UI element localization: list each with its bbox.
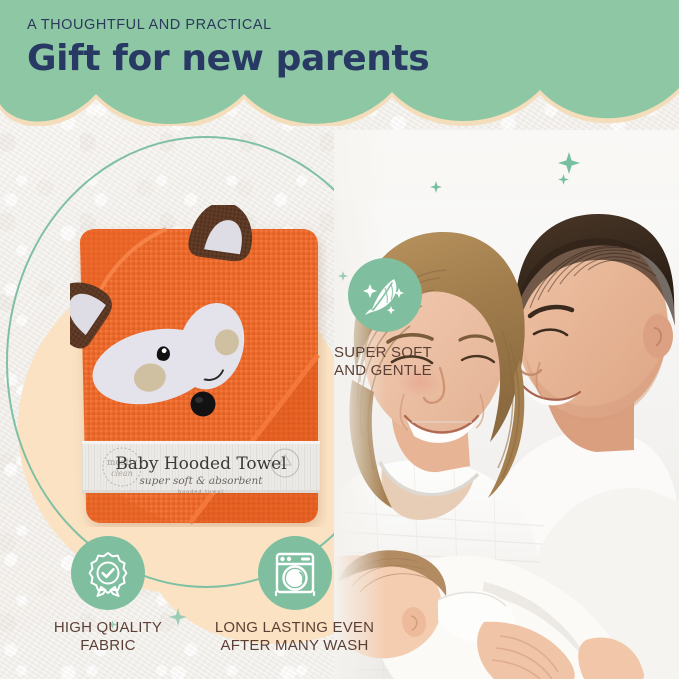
family-photo: [334, 130, 679, 679]
sparkle-icon: [338, 268, 348, 286]
svg-text:hooded towel: hooded towel: [178, 489, 224, 495]
product-image-baby-hooded-towel[interactable]: mostly clean Baby Hooded Towel super sof…: [70, 205, 327, 527]
feature-label: LONG LASTING EVEN AFTER MANY WASH: [207, 619, 382, 656]
sparkle-icon: [558, 172, 569, 190]
feature-icon-circle: [71, 536, 145, 610]
product-marketing-image: A THOUGHTFUL AND PRACTICAL Gift for new …: [0, 0, 679, 679]
feature-super-soft: SUPER SOFT AND GENTLE: [348, 258, 432, 381]
header-banner: A THOUGHTFUL AND PRACTICAL Gift for new …: [0, 0, 679, 112]
header-eyebrow: A THOUGHTFUL AND PRACTICAL: [27, 17, 429, 34]
sparkle-icon: [430, 180, 442, 198]
feature-label: HIGH QUALITY FABRIC: [33, 619, 183, 656]
washing-machine-icon: [271, 549, 319, 597]
feature-icon-circle: [258, 536, 332, 610]
label-subtitle: super soft & absorbent: [140, 475, 264, 487]
feature-high-quality: HIGH QUALITY FABRIC: [33, 536, 183, 656]
product-label-band: mostly clean Baby Hooded Towel super sof…: [82, 441, 320, 495]
label-title: Baby Hooded Towel: [115, 454, 286, 474]
feature-long-lasting: LONG LASTING EVEN AFTER MANY WASH: [207, 536, 382, 656]
quality-badge-icon: [84, 549, 132, 597]
page-title: Gift for new parents: [27, 40, 429, 78]
feature-label: SUPER SOFT AND GENTLE: [334, 344, 432, 381]
feature-icon-circle: [348, 258, 422, 332]
header-text-group: A THOUGHTFUL AND PRACTICAL Gift for new …: [27, 17, 429, 78]
feather-sparkle-icon: [361, 271, 409, 319]
